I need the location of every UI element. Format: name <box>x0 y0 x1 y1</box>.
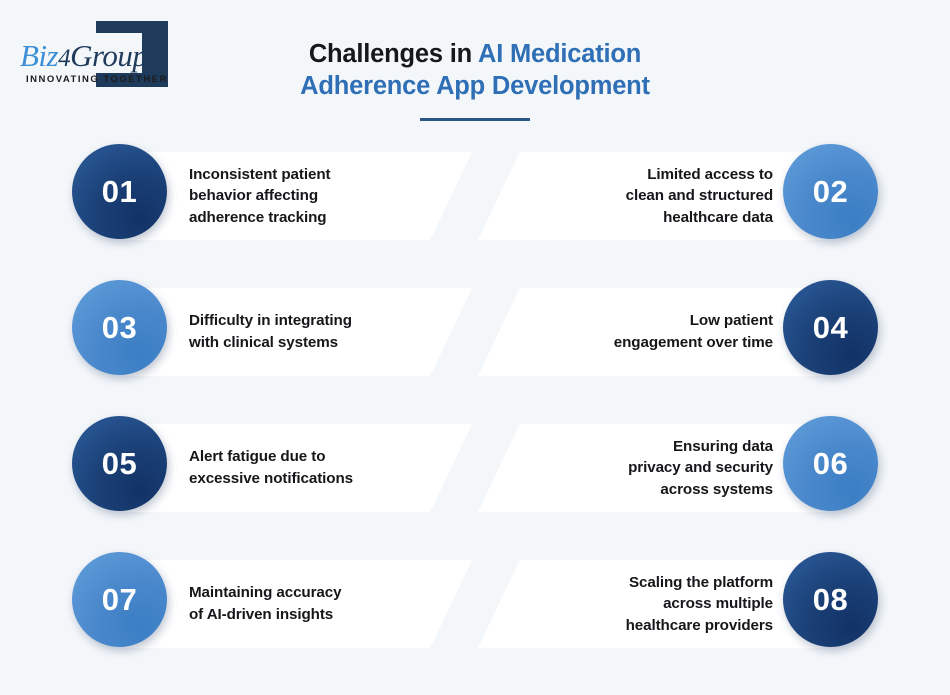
challenge-number-badge: 06 <box>783 416 878 511</box>
challenge-number-badge: 07 <box>72 552 167 647</box>
challenge-text-line: Inconsistent patient <box>189 164 330 186</box>
challenge-text-line: engagement over time <box>614 332 773 354</box>
title-divider <box>420 118 530 121</box>
challenge-text: Limited access toclean and structuredhea… <box>518 152 773 240</box>
challenge-text-line: Difficulty in integrating <box>189 310 352 332</box>
challenge-row: 01Inconsistent patientbehavior affecting… <box>0 136 950 272</box>
logo-tagline: INNOVATING TOGETHER <box>26 74 168 85</box>
challenge-text-line: adherence tracking <box>189 207 326 229</box>
challenge-number-badge: 04 <box>783 280 878 375</box>
challenge-text-line: Limited access to <box>647 164 773 186</box>
page-title-prefix: Challenges in <box>309 40 478 68</box>
challenge-text-line: healthcare providers <box>626 615 773 637</box>
challenge-number-badge: 02 <box>783 144 878 239</box>
challenge-item-05[interactable]: 05Alert fatigue due toexcessive notifica… <box>72 416 472 520</box>
challenge-text-line: excessive notifications <box>189 468 353 490</box>
logo-word-four: 4 <box>58 45 70 72</box>
challenge-text-line: privacy and security <box>628 457 773 479</box>
challenge-text: Ensuring dataprivacy and securityacross … <box>518 424 773 512</box>
challenge-text-line: across multiple <box>663 593 773 615</box>
challenge-text: Alert fatigue due toexcessive notificati… <box>189 424 429 512</box>
challenge-item-04[interactable]: 04Low patientengagement over time <box>478 280 878 384</box>
challenge-text-line: Alert fatigue due to <box>189 446 325 468</box>
challenge-row: 07Maintaining accuracyof AI-driven insig… <box>0 544 950 680</box>
challenge-number-badge: 08 <box>783 552 878 647</box>
page-title-highlight-line1: AI Medication <box>478 40 641 68</box>
challenge-text-line: with clinical systems <box>189 332 338 354</box>
challenge-text-line: behavior affecting <box>189 185 318 207</box>
challenge-row: 03Difficulty in integratingwith clinical… <box>0 272 950 408</box>
challenge-item-06[interactable]: 06Ensuring dataprivacy and securityacros… <box>478 416 878 520</box>
challenge-number-badge: 01 <box>72 144 167 239</box>
challenge-item-08[interactable]: 08Scaling the platformacross multiplehea… <box>478 552 878 656</box>
challenge-number-badge: 03 <box>72 280 167 375</box>
challenge-list: 01Inconsistent patientbehavior affecting… <box>0 136 950 680</box>
challenge-row: 05Alert fatigue due toexcessive notifica… <box>0 408 950 544</box>
logo-wordmark: Biz4Group <box>20 38 147 74</box>
challenge-item-03[interactable]: 03Difficulty in integratingwith clinical… <box>72 280 472 384</box>
challenge-text-line: Ensuring data <box>673 436 773 458</box>
challenge-text: Low patientengagement over time <box>518 288 773 376</box>
challenge-text-line: Scaling the platform <box>629 572 773 594</box>
challenge-text-line: Low patient <box>690 310 773 332</box>
infographic-header: Biz4Group INNOVATING TOGETHER Challenges… <box>0 0 950 135</box>
challenge-text: Scaling the platformacross multiplehealt… <box>518 560 773 648</box>
logo-word-group: Group <box>70 38 147 73</box>
page-title-highlight-line2: Adherence App Development <box>300 72 650 100</box>
challenge-text-line: Maintaining accuracy <box>189 582 341 604</box>
challenge-item-01[interactable]: 01Inconsistent patientbehavior affecting… <box>72 144 472 248</box>
challenge-text: Maintaining accuracyof AI-driven insight… <box>189 560 429 648</box>
challenge-text: Inconsistent patientbehavior affectingad… <box>189 152 429 240</box>
challenge-number-badge: 05 <box>72 416 167 511</box>
challenge-item-07[interactable]: 07Maintaining accuracyof AI-driven insig… <box>72 552 472 656</box>
challenge-text-line: across systems <box>660 479 773 501</box>
challenge-text-line: healthcare data <box>663 207 773 229</box>
challenge-text-line: of AI-driven insights <box>189 604 333 626</box>
challenge-text-line: clean and structured <box>626 185 773 207</box>
logo-word-biz: Biz <box>20 38 58 73</box>
challenge-text: Difficulty in integratingwith clinical s… <box>189 288 429 376</box>
challenge-item-02[interactable]: 02Limited access toclean and structuredh… <box>478 144 878 248</box>
